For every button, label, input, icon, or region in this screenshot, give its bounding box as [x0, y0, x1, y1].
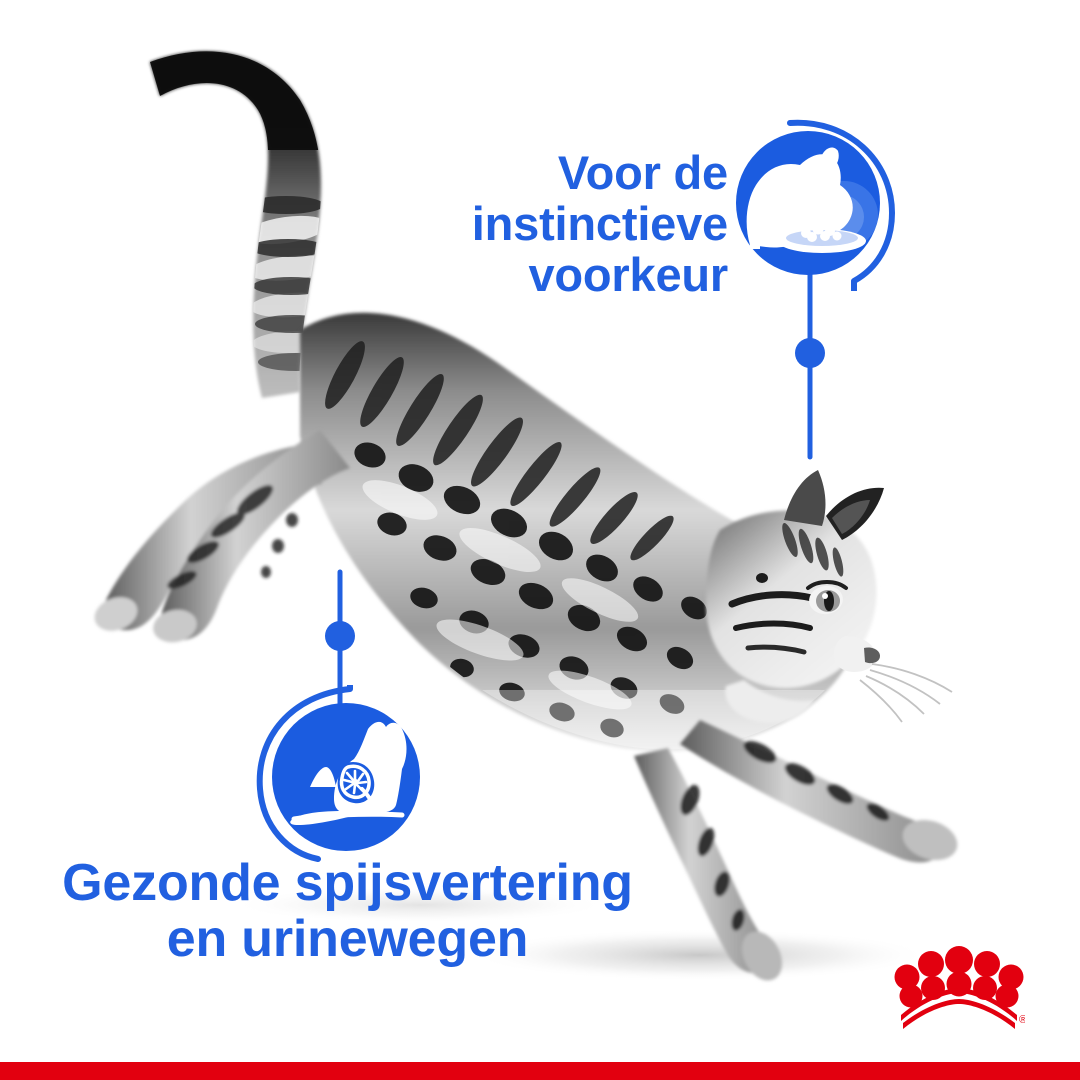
callout-label-instinctive-preference: Voor de instinctieve voorkeur: [338, 148, 728, 300]
connector-dot-bottom: [325, 621, 355, 651]
royal-canin-crown-logo: ®: [893, 943, 1025, 1029]
connector-dot-top: [795, 338, 825, 368]
product-benefit-poster: Voor de instinctieve voorkeur: [0, 0, 1080, 1080]
cat-kidney-urinary-icon: [250, 685, 428, 863]
cat-eating-from-bowl-icon: [726, 113, 904, 291]
registered-mark: ®: [1019, 1014, 1025, 1026]
brand-bar: [0, 1062, 1080, 1080]
callout-label-digestive-urinary-health: Gezonde spijsvertering en urinewegen: [60, 855, 635, 967]
